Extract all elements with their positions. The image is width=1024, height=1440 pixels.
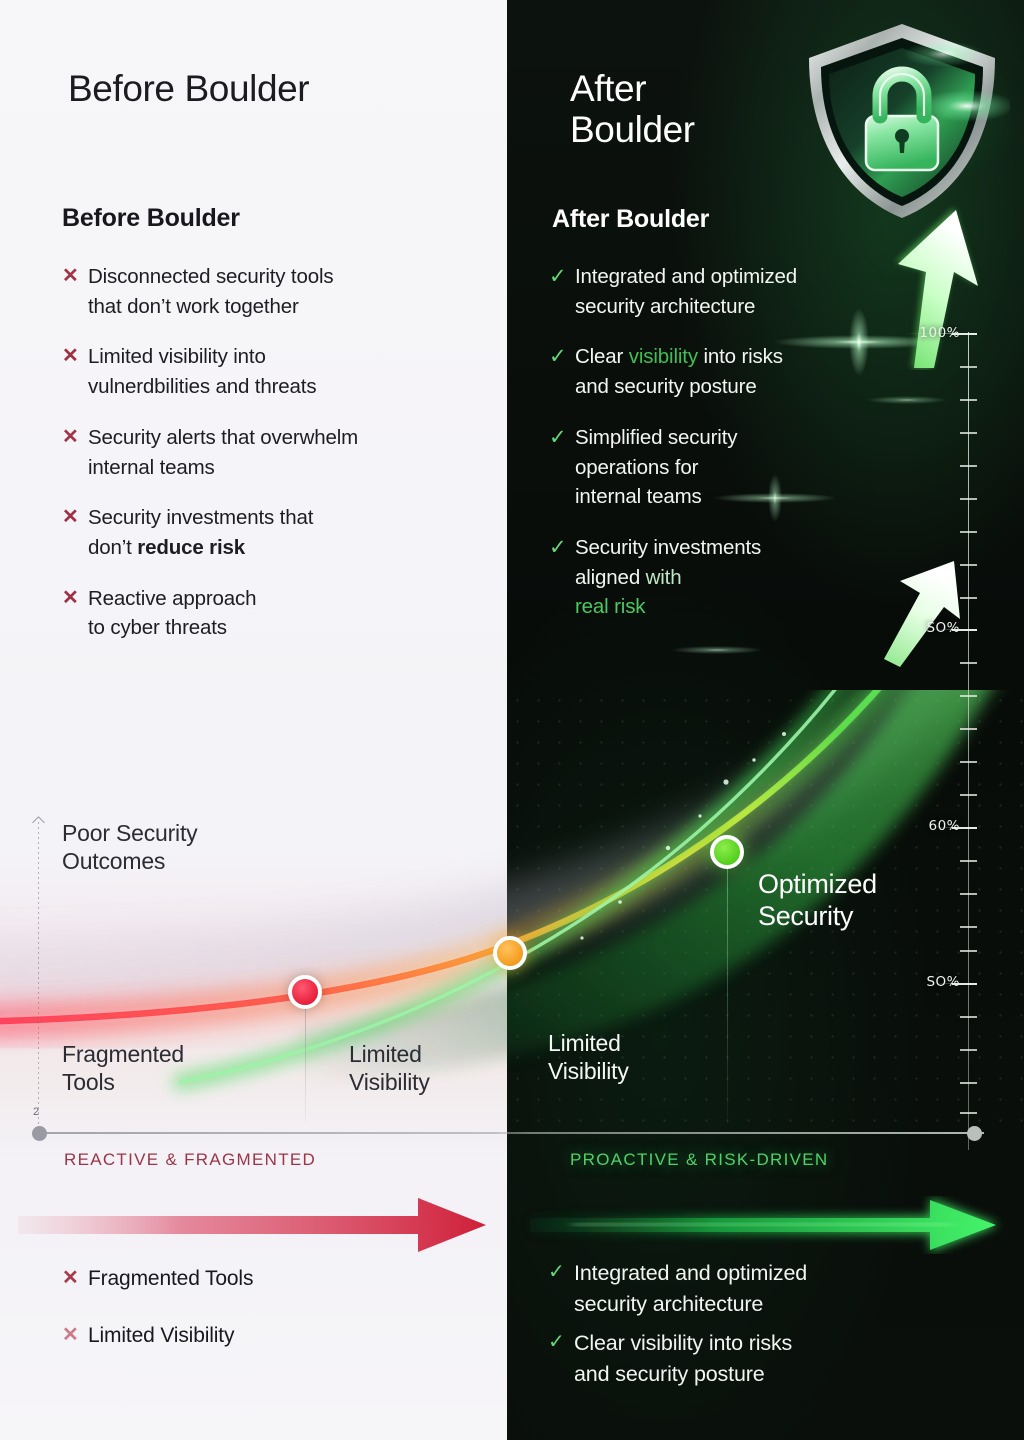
page-title-before: Before Boulder bbox=[68, 68, 309, 109]
arrow-proactive bbox=[512, 1196, 1012, 1254]
y-axis-leader-80 bbox=[935, 629, 967, 630]
caption-reactive-fragmented: REACTIVE & FRAGMENTED bbox=[64, 1150, 316, 1170]
list-item: ✓ Security investments aligned with real… bbox=[549, 533, 919, 622]
left-axis-line bbox=[38, 822, 39, 1124]
highlight-with: with bbox=[646, 566, 682, 589]
list-item-text: Reactive approach to cyber threats bbox=[88, 584, 256, 643]
axis-baseline bbox=[40, 1132, 984, 1134]
highlight-visibility: visibility bbox=[629, 345, 698, 368]
data-point-fragmented-tools[interactable] bbox=[288, 975, 322, 1009]
annotation-limited-visibility-left: Limited Visibility bbox=[349, 1041, 529, 1096]
list-item-text: Simplified security operations for inter… bbox=[575, 423, 737, 512]
check-icon: ✓ bbox=[548, 1258, 574, 1287]
after-boulder-bullet-list: ✓ Integrated and optimized security arch… bbox=[549, 262, 919, 643]
check-icon: ✓ bbox=[549, 262, 575, 292]
list-item: ✕ Security investments that don’t reduce… bbox=[62, 503, 462, 562]
list-item: ✕ Limited visibility into vulnerdbilitie… bbox=[62, 342, 462, 401]
baseline-dot-left bbox=[32, 1126, 47, 1141]
section-title-after: After Boulder bbox=[552, 205, 709, 234]
data-point-optimized-security[interactable] bbox=[710, 835, 744, 869]
list-item-text: Security investments aligned with real r… bbox=[575, 533, 761, 622]
list-item-text: Integrated and optimized security archit… bbox=[574, 1258, 807, 1319]
list-item: ✕ Disconnected security tools that don’t… bbox=[62, 262, 462, 321]
cross-icon: ✕ bbox=[62, 584, 88, 613]
y-axis-tick-label-50: SO% bbox=[926, 974, 960, 990]
infographic-canvas: Before Boulder After Boulder Before Boul… bbox=[0, 0, 1024, 1440]
check-icon: ✓ bbox=[549, 533, 575, 563]
list-item-text: Limited visibility into vulnerdbilities … bbox=[88, 342, 316, 401]
list-item: ✓ Simplified security operations for int… bbox=[549, 423, 919, 512]
footer-list-after: ✓ Integrated and optimized security arch… bbox=[548, 1258, 978, 1398]
caption-proactive-riskdriven: PROACTIVE & RISK-DRIVEN bbox=[570, 1150, 829, 1170]
list-item-text: Security alerts that overwhelm internal … bbox=[88, 423, 358, 482]
list-item: ✓ Clear visibility into risks and securi… bbox=[548, 1328, 978, 1389]
list-item-text: Disconnected security tools that don’t w… bbox=[88, 262, 333, 321]
y-axis-leader-100 bbox=[905, 333, 965, 334]
page-title-after-line2: Boulder bbox=[570, 109, 820, 150]
baseline-dot-right bbox=[967, 1126, 982, 1141]
cross-icon: ✕ bbox=[62, 342, 88, 371]
footer-list-before: ✕ Fragmented Tools ✕ Limited Visibility bbox=[62, 1264, 482, 1379]
cross-icon: ✕ bbox=[62, 1264, 88, 1293]
list-item: ✕ Security alerts that overwhelm interna… bbox=[62, 423, 462, 482]
list-item-text: Security investments that don’t reduce r… bbox=[88, 503, 313, 562]
page-title-after-line1: After bbox=[570, 68, 820, 109]
list-item: ✓ Clear visibility into risks and securi… bbox=[549, 342, 919, 401]
y-axis-leader-60 bbox=[935, 827, 967, 828]
list-item-text: Clear visibility into risks and security… bbox=[575, 342, 783, 401]
before-boulder-bullet-list: ✕ Disconnected security tools that don’t… bbox=[62, 262, 462, 664]
left-axis-origin-label: 2 bbox=[33, 1106, 39, 1118]
annotation-limited-visibility-right: Limited Visibility bbox=[548, 1030, 728, 1085]
y-axis-tick-label-60: 60% bbox=[928, 818, 960, 834]
section-title-before: Before Boulder bbox=[62, 204, 240, 233]
cross-icon: ✕ bbox=[62, 503, 88, 532]
list-item-text: Limited Visibility bbox=[88, 1321, 234, 1351]
arrow-reactive bbox=[0, 1196, 500, 1254]
list-item-text: Clear visibility into risks and security… bbox=[574, 1328, 792, 1389]
list-item: ✕ Reactive approach to cyber threats bbox=[62, 584, 462, 643]
annotation-poor-security-outcomes: Poor Security Outcomes bbox=[62, 820, 272, 875]
cross-icon: ✕ bbox=[62, 1321, 88, 1350]
page-title-after: After Boulder bbox=[570, 68, 820, 151]
check-icon: ✓ bbox=[549, 423, 575, 453]
highlight-real-risk: real risk bbox=[575, 595, 645, 618]
shield-lock-icon bbox=[795, 18, 1010, 223]
cross-icon: ✕ bbox=[62, 262, 88, 291]
list-item: ✓ Integrated and optimized security arch… bbox=[548, 1258, 978, 1319]
annotation-optimized-security: Optimized Security bbox=[758, 868, 968, 933]
data-point-limited-visibility[interactable] bbox=[493, 936, 527, 970]
y-axis-leader-50 bbox=[935, 983, 967, 984]
dropline-fragmented-tools bbox=[305, 1000, 306, 1122]
cross-icon: ✕ bbox=[62, 423, 88, 452]
list-item: ✓ Integrated and optimized security arch… bbox=[549, 262, 919, 321]
check-icon: ✓ bbox=[548, 1328, 574, 1357]
y-axis-rail bbox=[968, 332, 969, 1150]
list-item: ✕ Fragmented Tools bbox=[62, 1264, 482, 1294]
list-item-text: Fragmented Tools bbox=[88, 1264, 253, 1294]
y-axis-tick-label-80: SO% bbox=[926, 620, 960, 636]
check-icon: ✓ bbox=[549, 342, 575, 372]
annotation-fragmented-tools: Fragmented Tools bbox=[62, 1041, 262, 1096]
list-item: ✕ Limited Visibility bbox=[62, 1321, 482, 1351]
list-item-text: Integrated and optimized security archit… bbox=[575, 262, 797, 321]
